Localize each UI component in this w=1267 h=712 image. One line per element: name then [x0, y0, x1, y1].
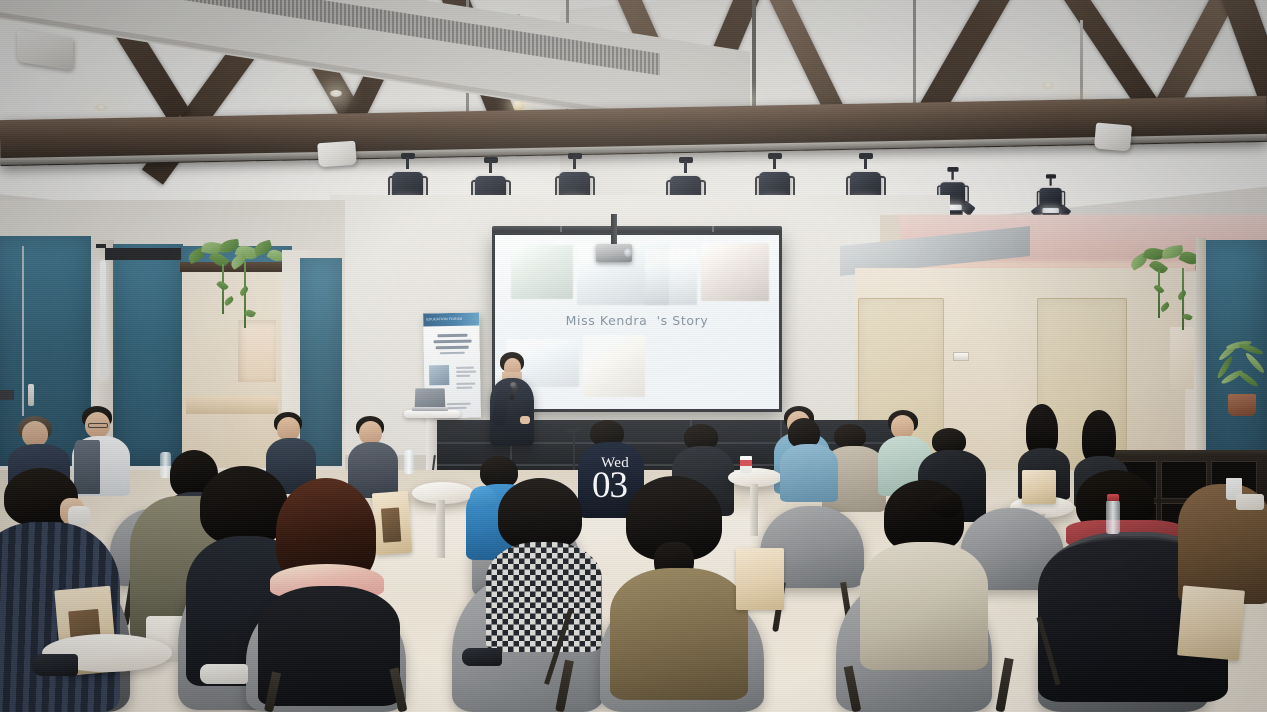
water-bottle: [1106, 500, 1120, 534]
hanging-wire: [22, 246, 24, 416]
banner-logo-text: EDUCATION FORUM: [426, 316, 462, 321]
wall-panel-teal: [113, 244, 183, 466]
water-bottle: [404, 450, 414, 474]
ceiling-downlight: [330, 90, 342, 97]
projection-screen[interactable]: Miss Kendra 's Story: [492, 232, 782, 412]
wall-panel-edge: [1196, 238, 1206, 470]
slide-photo-wooden-tool: [583, 335, 645, 397]
banner-header-bar: EDUCATION FORUM: [423, 313, 479, 327]
speaker-icon: [317, 141, 357, 168]
slide-photo-children-standing: [645, 249, 697, 305]
ceiling-downlight: [95, 104, 107, 111]
microphone-head-icon: [510, 382, 517, 388]
alcove-ledge: [180, 262, 286, 272]
wall-panel-teal: [300, 258, 342, 466]
wall-niche-right: [1170, 327, 1194, 389]
paper-gift-bag: [1177, 585, 1245, 660]
table-stem: [750, 484, 758, 536]
jacket-hood: [470, 486, 496, 508]
bottle-cap: [1107, 494, 1119, 501]
projector-lens-icon: [624, 248, 632, 257]
presenter-laptop[interactable]: [412, 388, 448, 412]
banner-photo: [429, 365, 449, 385]
paper-gift-bag: [736, 548, 784, 610]
snack-box: [1022, 470, 1056, 504]
panel-header: [105, 248, 181, 260]
snack-plate: [1236, 494, 1264, 510]
wall-strip-light: [100, 260, 106, 378]
table-stem: [436, 500, 445, 558]
alcove-shelf: [186, 396, 278, 414]
shoe: [200, 664, 248, 684]
shoe: [32, 654, 78, 676]
wall-panel-teal-right: [1200, 240, 1267, 470]
slide-title: Miss Kendra 's Story: [495, 313, 779, 328]
pendant-light-rod: [1080, 20, 1083, 102]
hair-bun: [932, 490, 962, 518]
speaker-icon: [1094, 122, 1132, 151]
hoodie-print-number: 03: [592, 467, 627, 504]
slide-photo-child-with-stick: [511, 245, 573, 299]
slide-photo-smiling-girl: [701, 243, 769, 301]
door-sign: [953, 352, 969, 361]
conference-room-photo: Miss Kendra 's Story EDUCATION FORUM 北京 …: [0, 0, 1267, 712]
projector-mount: [611, 214, 617, 246]
glasses-icon: [88, 423, 108, 428]
ceiling-downlight: [1042, 82, 1054, 89]
slide-surface: Miss Kendra 's Story: [495, 235, 779, 409]
wall-fixture: [0, 390, 14, 400]
face-mask: [68, 506, 90, 526]
wall-lamp: [28, 384, 34, 406]
shoe: [462, 648, 502, 666]
alcove-niche: [238, 320, 276, 382]
mic-stand: [573, 430, 575, 470]
cup-band: [740, 460, 752, 466]
paper-gift-bag: [372, 491, 412, 555]
